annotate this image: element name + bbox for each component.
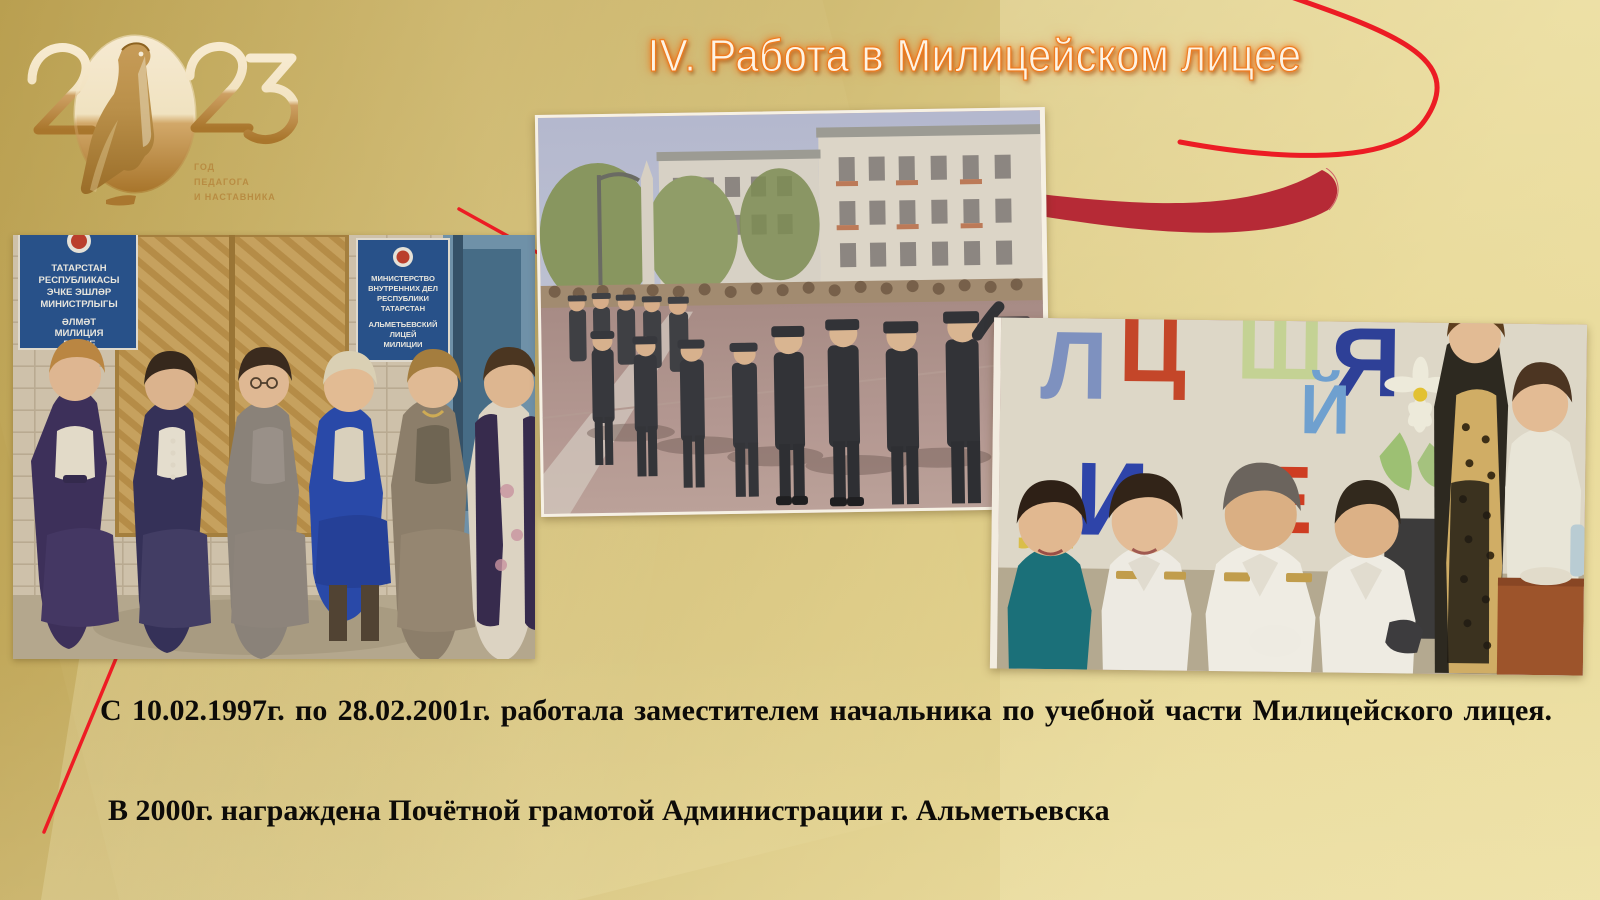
logo-caption-line-1: ГОД — [194, 160, 304, 175]
slide-title-text: IV. Работа в Милицейском лицее — [648, 30, 1302, 82]
logo-caption: ГОД ПЕДАГОГА И НАСТАВНИКА — [194, 160, 304, 205]
year-of-teacher-2023-logo: ГОД ПЕДАГОГА И НАСТАВНИКА — [18, 14, 298, 224]
photo-lyceum-entrance-teachers: ТАТАРСТАН РЕСПУБЛИКАСЫ ЭЧКЕ ЭШЛӘР МИНИСТ… — [13, 235, 535, 659]
photo-lyceum-staff-seated: Л Ц Ш Я И Е Й Л — [990, 317, 1587, 675]
caption-paragraph-2: В 2000г. награждена Почётной грамотой Ад… — [52, 786, 1552, 836]
slide-title: IV. Работа в Милицейском лицее — [560, 24, 1390, 88]
logo-caption-line-2: ПЕДАГОГА — [194, 175, 304, 190]
slide-caption: С 10.02.1997г. по 28.02.2001г. работала … — [52, 686, 1552, 836]
caption-paragraph-1: С 10.02.1997г. по 28.02.2001г. работала … — [52, 686, 1552, 786]
presentation-slide: ГОД ПЕДАГОГА И НАСТАВНИКА IV. Работа в М… — [0, 0, 1600, 900]
red-ribbon-decoration — [1040, 168, 1400, 258]
logo-caption-line-3: И НАСТАВНИКА — [194, 190, 304, 205]
photo-cadets-parade — [535, 107, 1051, 517]
